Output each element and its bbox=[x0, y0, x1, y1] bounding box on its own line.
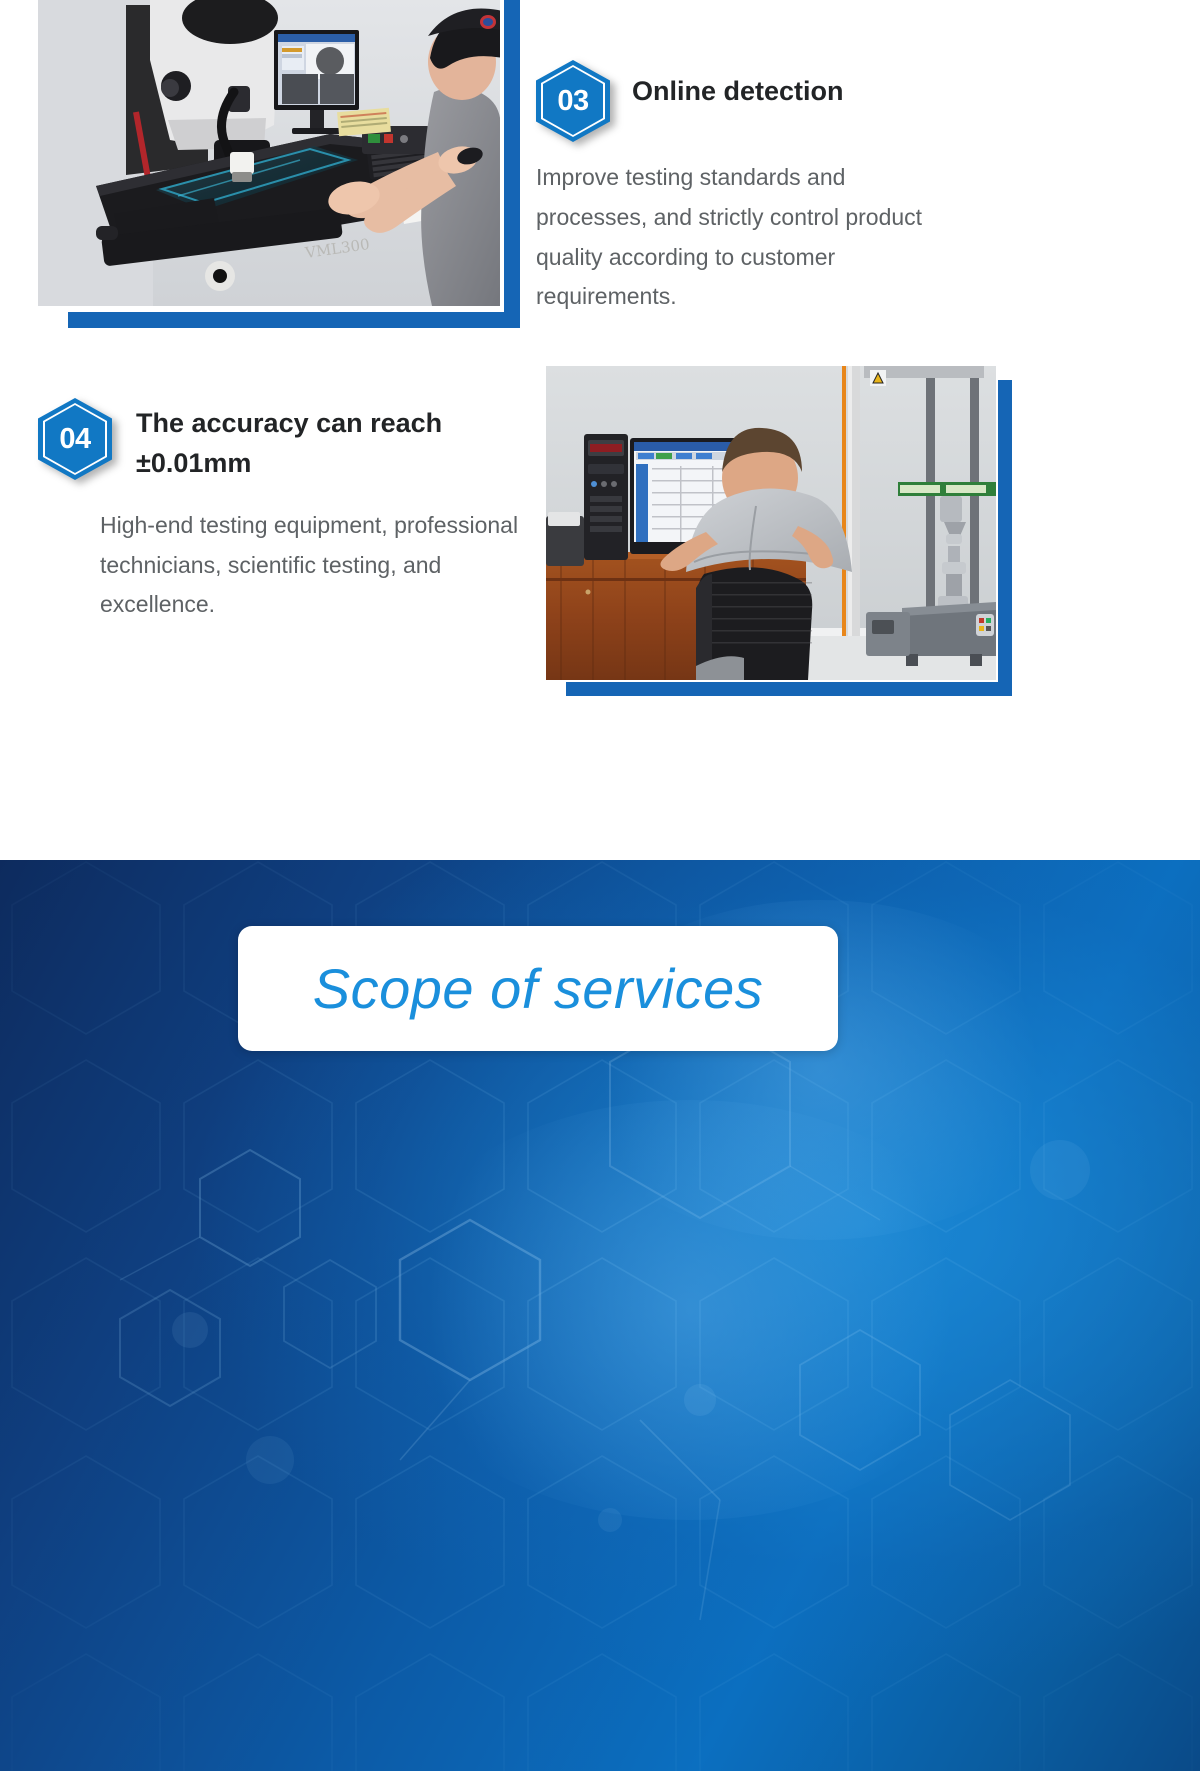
frame-bar-bottom bbox=[68, 312, 520, 328]
page-title: Scope of services bbox=[313, 956, 763, 1021]
photo-tensile-testing-machine bbox=[546, 366, 996, 680]
frame-bar-right bbox=[504, 0, 520, 328]
badge-number: 04 bbox=[38, 398, 112, 480]
hexagon-badge-icon: 03 bbox=[536, 60, 610, 142]
feature-block-03: 03 Online detection Improve testing stan… bbox=[536, 60, 1036, 317]
scope-of-services-section: Scope of services bbox=[0, 860, 1200, 1771]
hexagon-badge-icon: 04 bbox=[38, 398, 112, 480]
poster-page: VML300 bbox=[0, 0, 1200, 1771]
feature-body: High-end testing equipment, professional… bbox=[100, 506, 530, 625]
feature-title: The accuracy can reach ±0.01mm bbox=[136, 398, 516, 484]
feature-head: 03 Online detection bbox=[536, 60, 1036, 142]
badge-number: 03 bbox=[536, 60, 610, 142]
scope-title-card: Scope of services bbox=[238, 926, 838, 1051]
frame-bar-right bbox=[998, 380, 1012, 696]
feature-body: Improve testing standards and processes,… bbox=[536, 158, 928, 317]
glow-accent-mid bbox=[380, 1100, 1000, 1520]
photo-frame-accuracy bbox=[546, 366, 1012, 696]
photo-frame-online-detection: VML300 bbox=[38, 0, 520, 328]
feature-block-04: 04 The accuracy can reach ±0.01mm High-e… bbox=[38, 398, 538, 625]
top-features-section: VML300 bbox=[0, 0, 1200, 860]
feature-head: 04 The accuracy can reach ±0.01mm bbox=[38, 398, 538, 484]
photo-measuring-projector: VML300 bbox=[38, 0, 500, 306]
frame-bar-bottom bbox=[566, 682, 1012, 696]
feature-title: Online detection bbox=[632, 60, 844, 112]
